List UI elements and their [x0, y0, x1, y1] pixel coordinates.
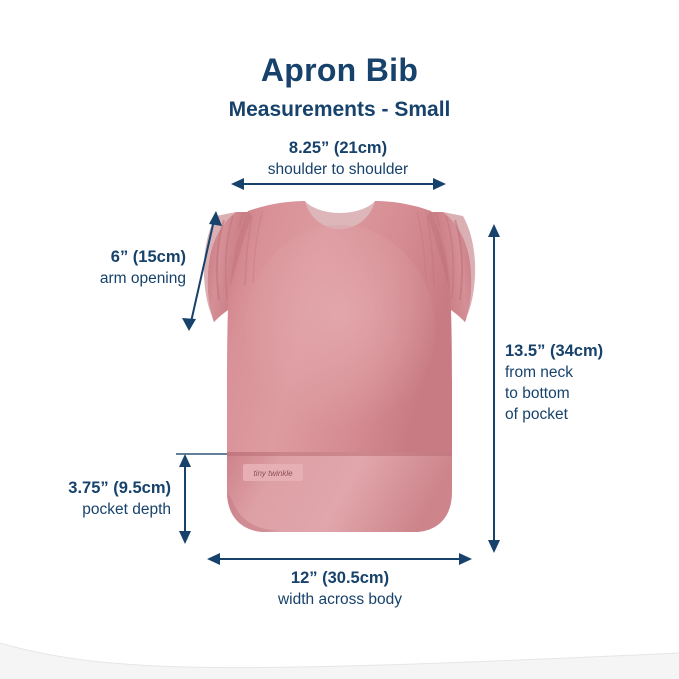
neck-to-pocket-measurement: 13.5” (34cm) from neck to bottom of pock…	[505, 341, 675, 425]
brand-tag: tiny twinkle	[243, 464, 303, 481]
width-value: 12” (30.5cm)	[230, 568, 450, 589]
shoulder-measurement: 8.25” (21cm) shoulder to shoulder	[238, 138, 438, 180]
neck-to-pocket-label-3: of pocket	[505, 404, 675, 425]
shoulder-label: shoulder to shoulder	[238, 159, 438, 180]
bib-body	[227, 201, 452, 452]
neck-to-pocket-label-1: from neck	[505, 362, 675, 383]
svg-text:tiny twinkle: tiny twinkle	[253, 469, 293, 478]
neck-to-pocket-label-2: to bottom	[505, 383, 675, 404]
arm-opening-label: arm opening	[14, 268, 186, 289]
arm-opening-value: 6” (15cm)	[14, 247, 186, 268]
page-bottom-curve	[0, 609, 679, 679]
pocket-depth-value: 3.75” (9.5cm)	[0, 478, 171, 499]
arm-opening-measurement: 6” (15cm) arm opening	[14, 247, 186, 289]
pocket-depth-measurement: 3.75” (9.5cm) pocket depth	[0, 478, 171, 520]
shoulder-value: 8.25” (21cm)	[238, 138, 438, 159]
width-label: width across body	[230, 589, 450, 610]
measurement-diagram: Apron Bib Measurements - Small	[0, 0, 679, 679]
pocket-depth-label: pocket depth	[0, 499, 171, 520]
width-measurement: 12” (30.5cm) width across body	[230, 568, 450, 610]
neck-to-pocket-value: 13.5” (34cm)	[505, 341, 675, 362]
